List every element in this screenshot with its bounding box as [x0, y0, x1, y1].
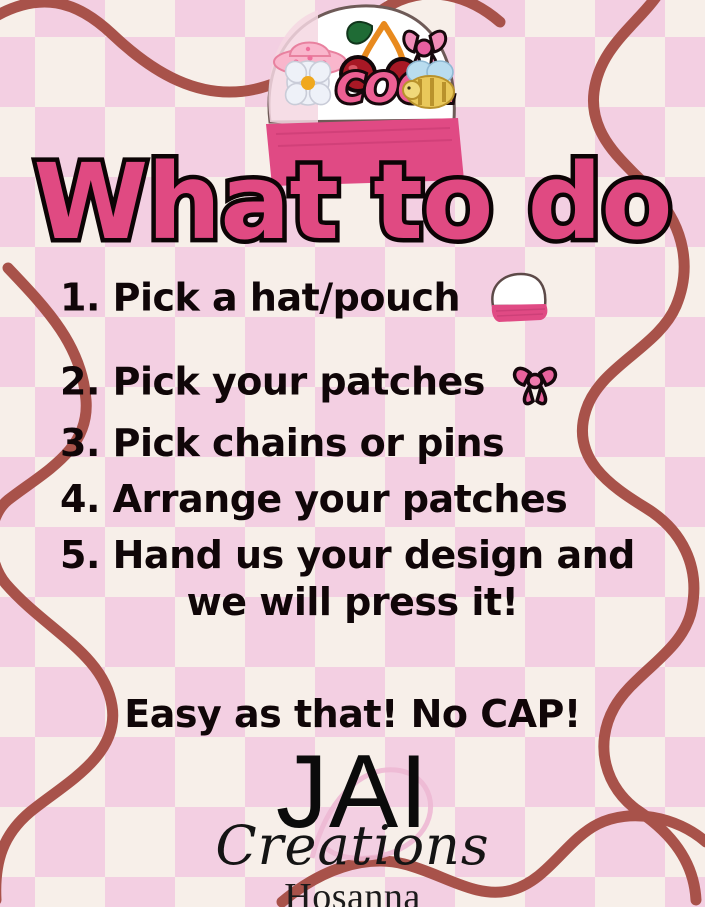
brand-logo: JAI Creations Hosanna: [0, 740, 705, 907]
cap-icon: [483, 272, 555, 324]
step-text: Pick a hat/pouch: [113, 276, 460, 320]
step-number: 3.: [60, 421, 100, 465]
list-item: 5. Hand us your design and: [0, 533, 705, 577]
logo-script-text: Creations: [0, 817, 705, 875]
step-text: Hand us your design and: [113, 533, 635, 577]
poster-canvas: COOL What to do 1. Pick a hat/pouch 2: [0, 0, 705, 907]
step-text: Pick chains or pins: [113, 421, 505, 465]
daisy-flower-patch: [281, 57, 334, 109]
bow-icon: [506, 359, 564, 407]
logo-name-text: Hosanna: [0, 876, 705, 907]
step-5-continuation: we will press it!: [0, 577, 705, 627]
instruction-steps-list: 1. Pick a hat/pouch 2. Pick your patches…: [0, 272, 705, 627]
step-number: 2.: [60, 360, 100, 404]
page-title: What to do: [0, 146, 705, 260]
step-number: 1.: [60, 276, 100, 320]
bee-patch: [403, 61, 454, 108]
step-text: Arrange your patches: [113, 477, 568, 521]
list-item: 3. Pick chains or pins: [0, 421, 705, 465]
step-number: 4.: [60, 477, 100, 521]
tagline: Easy as that! No CAP!: [0, 691, 705, 737]
page-title-text: What to do: [0, 146, 705, 258]
list-item: 2. Pick your patches: [0, 359, 705, 409]
list-item: 1. Pick a hat/pouch: [0, 272, 705, 328]
step-text: Pick your patches: [113, 360, 485, 404]
list-item: 4. Arrange your patches: [0, 477, 705, 521]
step-number: 5.: [60, 533, 100, 577]
